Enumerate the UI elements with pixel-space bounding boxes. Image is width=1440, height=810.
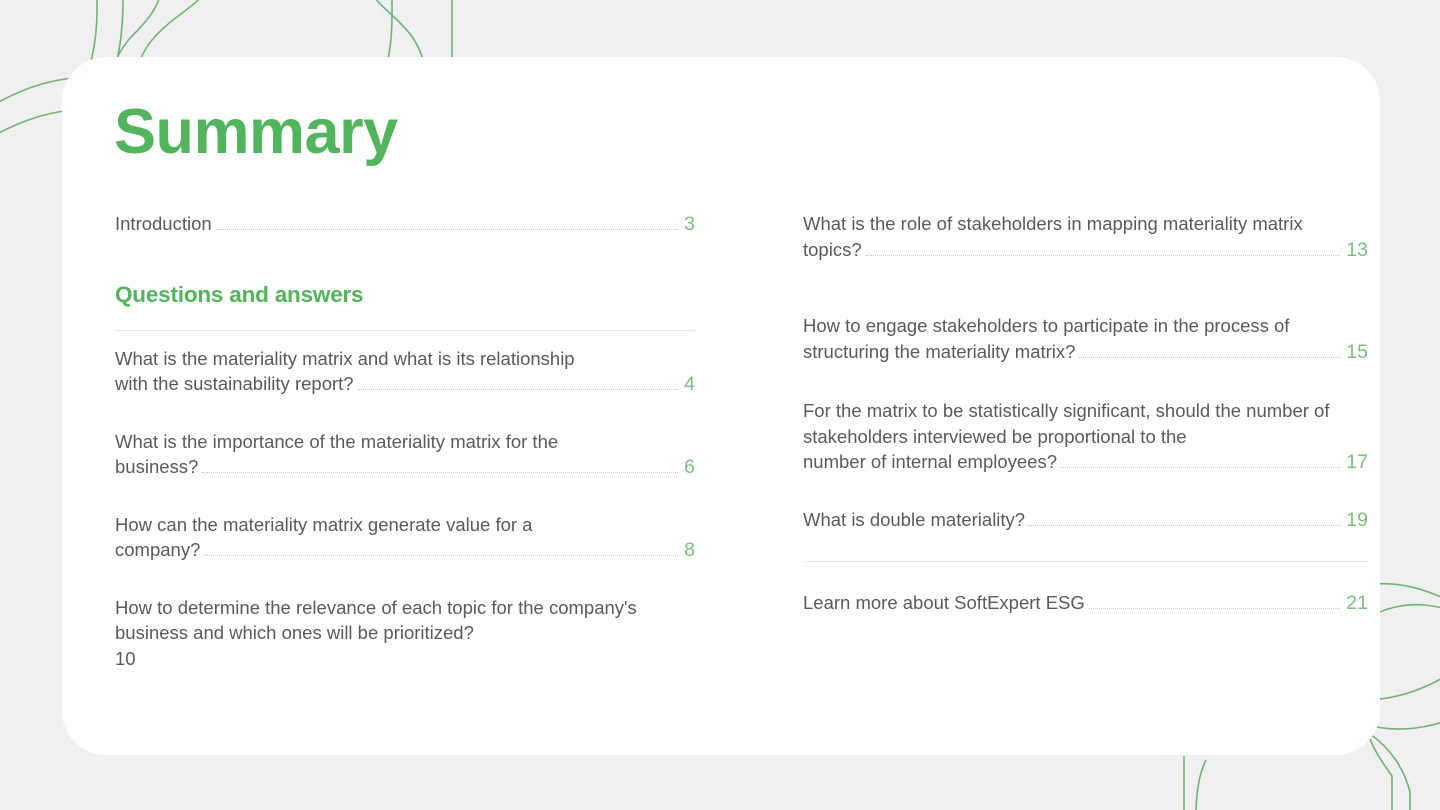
toc-page-number: 13 — [1346, 238, 1368, 264]
toc-entry-label: What is double materiality? — [803, 507, 1025, 533]
toc-entry-text: What is the importance of the materialit… — [115, 429, 695, 455]
leader-dots — [358, 389, 679, 390]
toc-entry-text-last: structuring the materiality matrix? — [803, 339, 1075, 365]
leader-dots — [1079, 357, 1340, 358]
toc-entry-introduction[interactable]: Introduction 3 — [115, 211, 695, 238]
toc-entry-text: How can the materiality matrix generate … — [115, 512, 695, 538]
leader-dots — [216, 229, 678, 230]
page-title: Summary — [114, 101, 398, 164]
section-heading-questions: Questions and answers — [115, 282, 695, 308]
toc-entry-text: What is the role of stakeholders in mapp… — [803, 211, 1368, 237]
toc-entry-text: What is the materiality matrix and what … — [115, 346, 695, 372]
leader-dots — [202, 472, 678, 473]
toc-column-left: Introduction 3 Questions and answers Wha… — [115, 211, 695, 671]
toc-entry-materiality-importance[interactable]: What is the importance of the materialit… — [115, 429, 695, 481]
leader-dots — [1029, 525, 1340, 526]
toc-entry-materiality-value[interactable]: How can the materiality matrix generate … — [115, 512, 695, 564]
toc-page-number: 10 — [115, 646, 136, 672]
toc-page-number: 3 — [684, 212, 695, 238]
toc-entry-label: Learn more about SoftExpert ESG — [803, 590, 1085, 616]
leader-dots — [866, 255, 1341, 256]
summary-card: Summary Introduction 3 Questions and ans… — [62, 57, 1380, 755]
toc-page-number: 6 — [684, 455, 695, 481]
toc-entry-text-last: with the sustainability report? — [115, 371, 354, 397]
toc-entry-statistical-significance[interactable]: For the matrix to be statistically signi… — [803, 398, 1368, 476]
leader-dots — [204, 555, 678, 556]
toc-entry-text-last: business? — [115, 454, 198, 480]
toc-page-number: 17 — [1346, 450, 1368, 476]
toc-entry-text: How to engage stakeholders to participat… — [803, 313, 1368, 339]
toc-entry-stakeholders-role[interactable]: What is the role of stakeholders in mapp… — [803, 211, 1368, 263]
decor-stem-10 — [1370, 734, 1410, 810]
toc-columns: Introduction 3 Questions and answers Wha… — [62, 211, 1380, 671]
toc-entry-engage-stakeholders[interactable]: How to engage stakeholders to participat… — [803, 313, 1368, 365]
toc-entry-text-last: number of internal employees? — [803, 449, 1057, 475]
toc-entry-topic-relevance[interactable]: How to determine the relevance of each t… — [115, 595, 695, 672]
toc-page-number: 8 — [684, 538, 695, 564]
toc-entry-label: Introduction — [115, 211, 212, 237]
decor-stem-9 — [1366, 728, 1392, 810]
toc-page-number: 19 — [1346, 508, 1368, 534]
toc-entry-text-last: topics? — [803, 237, 862, 263]
toc-entry-text: How to determine the relevance of each t… — [115, 595, 695, 646]
leader-dots — [1061, 467, 1340, 468]
toc-page-number: 15 — [1346, 340, 1368, 366]
leader-dots — [1089, 608, 1341, 609]
toc-page-number: 21 — [1346, 591, 1368, 617]
toc-page-number: 4 — [684, 372, 695, 398]
toc-entry-double-materiality[interactable]: What is double materiality? 19 — [803, 507, 1368, 534]
decor-stem-12 — [1196, 760, 1206, 810]
toc-entry-materiality-relationship[interactable]: What is the materiality matrix and what … — [115, 346, 695, 398]
toc-entry-text-last: company? — [115, 537, 200, 563]
toc-entry-learn-more[interactable]: Learn more about SoftExpert ESG 21 — [803, 590, 1368, 617]
toc-entry-text: For the matrix to be statistically signi… — [803, 398, 1368, 449]
toc-column-right: What is the role of stakeholders in mapp… — [803, 211, 1368, 671]
